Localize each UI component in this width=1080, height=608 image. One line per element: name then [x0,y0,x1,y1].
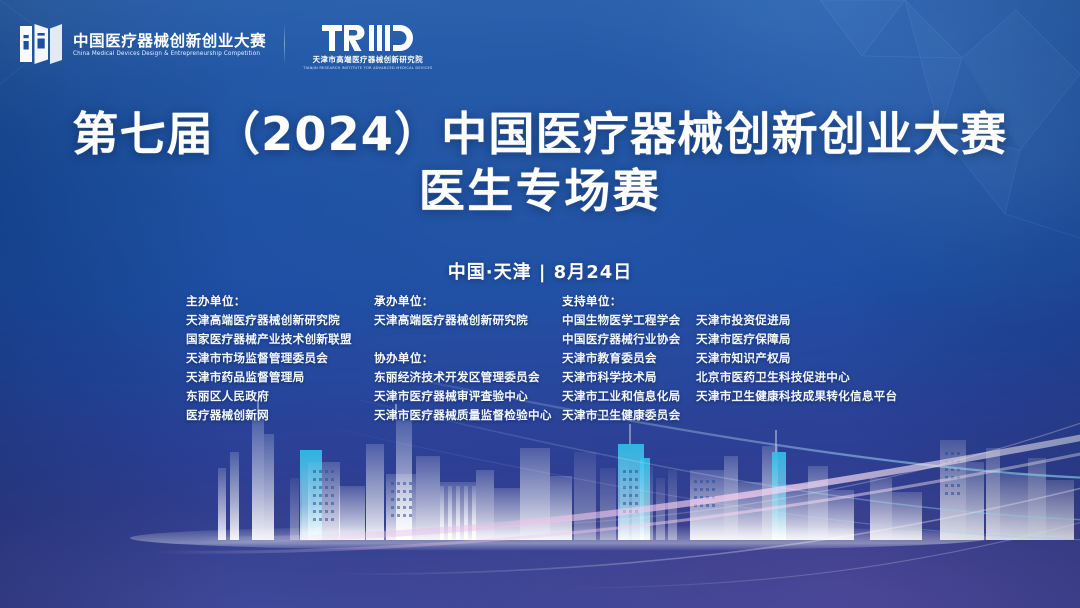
competition-logo: 中国医疗器械创新创业大赛 China Medical Devices Desig… [18,22,266,66]
org-item: 天津市医疗器械质量监督检验中心 [374,406,562,425]
org-subcolumn-left: 支持单位： 中国生物医学工程学会 中国医疗器械行业协会 天津市教育委员会 天津市… [562,292,696,425]
logo-bar: 中国医疗器械创新创业大赛 China Medical Devices Desig… [18,22,433,70]
event-poster: 中国医疗器械创新创业大赛 China Medical Devices Desig… [0,0,1080,608]
org-spacer [374,330,562,349]
logo-divider [284,24,285,64]
org-item: 天津市医疗器械审评查验中心 [374,387,562,406]
org-column-host: 主办单位： 天津高端医疗器械创新研究院 国家医疗器械产业技术创新联盟 天津市市场… [186,292,374,425]
org-heading: 协办单位： [374,349,562,368]
institute-logo-en: TIANJIN RESEARCH INSTITUTE FOR ADVANCED … [303,66,432,70]
org-item: 天津市知识产权局 [696,349,906,368]
org-item: 中国医疗器械行业协会 [562,330,696,349]
trimd-wordmark-icon [322,23,414,53]
org-item: 天津市科学技术局 [562,368,696,387]
org-item: 北京市医药卫生科技促进中心 [696,368,906,387]
org-item: 天津市卫生健康委员会 [562,406,696,425]
org-item: 天津市药品监督管理局 [186,368,374,387]
org-heading: 承办单位： [374,292,562,311]
org-column-supporters: 支持单位： 中国生物医学工程学会 中国医疗器械行业协会 天津市教育委员会 天津市… [562,292,906,425]
org-item: 东丽经济技术开发区管理委员会 [374,368,562,387]
org-item: 天津市市场监督管理委员会 [186,349,374,368]
org-item: 天津市投资促进局 [696,311,906,330]
institute-logo: 天津市高端医疗器械创新研究院 TIANJIN RESEARCH INSTITUT… [303,22,432,70]
poster-title: 第七届（2024）中国医疗器械创新创业大赛 医生专场赛 [0,108,1080,219]
org-item: 医疗器械创新网 [186,406,374,425]
title-line-2: 医生专场赛 [0,165,1080,218]
org-item: 天津市医疗保障局 [696,330,906,349]
competition-logo-en: China Medical Devices Design & Entrepren… [73,51,266,57]
org-item: 国家医疗器械产业技术创新联盟 [186,330,374,349]
org-item: 天津高端医疗器械创新研究院 [374,311,562,330]
org-heading: 支持单位： [562,292,696,311]
org-item: 天津市工业和信息化局 [562,387,696,406]
org-column-organizer: 承办单位： 天津高端医疗器械创新研究院 协办单位： 东丽经济技术开发区管理委员会… [374,292,562,425]
title-line-1: 第七届（2024）中国医疗器械创新创业大赛 [0,108,1080,161]
institute-logo-cn: 天津市高端医疗器械创新研究院 [313,54,423,65]
org-item: 东丽区人民政府 [186,387,374,406]
org-subcolumn-right: 天津市投资促进局 天津市医疗保障局 天津市知识产权局 北京市医药卫生科技促进中心… [696,292,906,425]
org-item: 天津高端医疗器械创新研究院 [186,311,374,330]
org-heading: 主办单位： [186,292,374,311]
event-location-date: 中国·天津 | 8月24日 [0,258,1080,284]
organizations-block: 主办单位： 天津高端医疗器械创新研究院 国家医疗器械产业技术创新联盟 天津市市场… [186,292,906,425]
competition-logo-cn: 中国医疗器械创新创业大赛 [73,33,266,49]
org-spacer [696,292,906,311]
org-item: 天津市教育委员会 [562,349,696,368]
org-item: 天津市卫生健康科技成果转化信息平台 [696,387,906,406]
org-item: 中国生物医学工程学会 [562,311,696,330]
open-book-door-logo-icon [18,22,64,66]
